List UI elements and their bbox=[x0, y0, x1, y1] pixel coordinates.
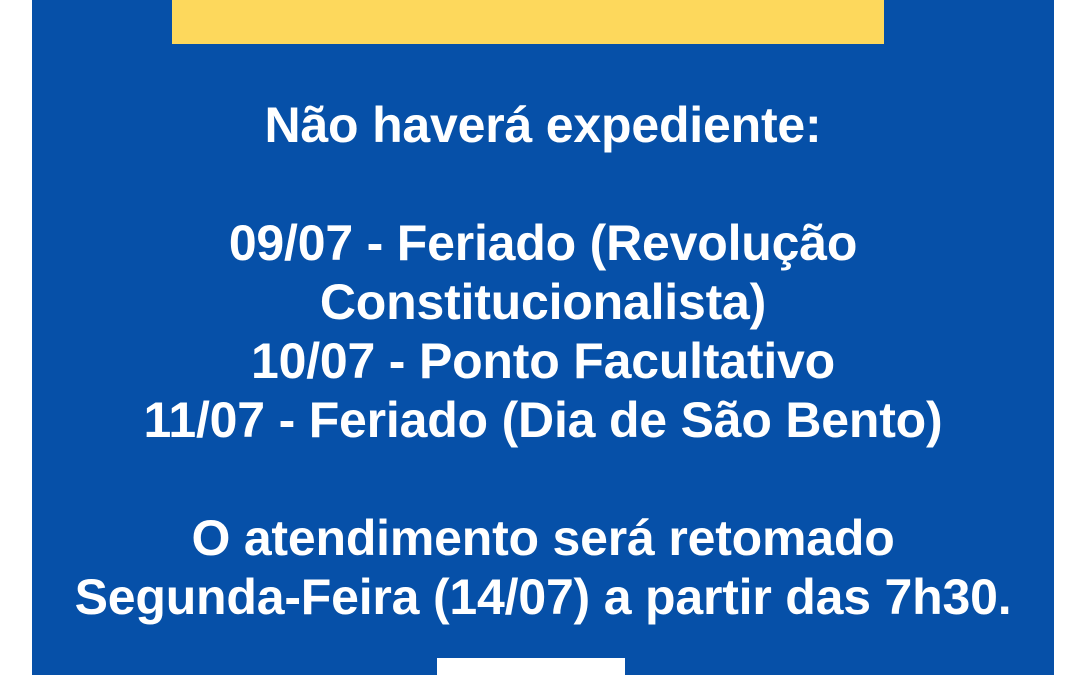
reopening-line-2: Segunda-Feira (14/07) a partir das 7h30. bbox=[32, 568, 1054, 627]
holiday-notice-poster: Não haverá expediente: 09/07 - Feriado (… bbox=[0, 0, 1080, 675]
notice-message-block: Não haverá expediente: 09/07 - Feriado (… bbox=[32, 96, 1054, 627]
bottom-white-card bbox=[437, 658, 625, 675]
reopening-line-1: O atendimento será retomado bbox=[32, 509, 1054, 568]
holiday-dates-list: 09/07 - Feriado (Revolução Constituciona… bbox=[32, 214, 1054, 450]
holiday-date-line-3: 10/07 - Ponto Facultativo bbox=[32, 332, 1054, 391]
holiday-date-line-4: 11/07 - Feriado (Dia de São Bento) bbox=[32, 391, 1054, 450]
notice-heading: Não haverá expediente: bbox=[32, 96, 1054, 155]
reopening-notice: O atendimento será retomado Segunda-Feir… bbox=[32, 509, 1054, 627]
holiday-date-line-1: 09/07 - Feriado (Revolução bbox=[32, 214, 1054, 273]
yellow-header-banner bbox=[172, 0, 884, 44]
heading-dates-spacer bbox=[32, 155, 1054, 214]
dates-closing-spacer bbox=[32, 450, 1054, 509]
holiday-date-line-2: Constitucionalista) bbox=[32, 273, 1054, 332]
